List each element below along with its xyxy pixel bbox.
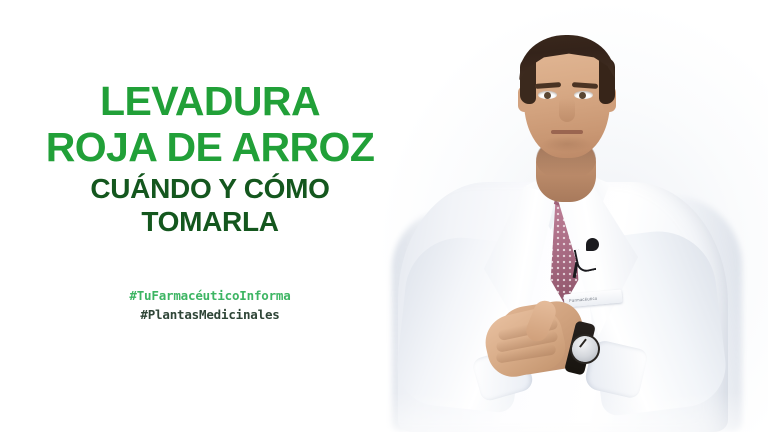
presenter-figure: Farmacéutico xyxy=(380,0,768,432)
hashtag-secondary: #PlantasMedicinales xyxy=(0,305,420,324)
iris-right xyxy=(579,92,586,99)
title-block: LEVADURA ROJA DE ARROZ xyxy=(0,78,420,170)
video-thumbnail: Farmacéutico LEVADURA ROJA DE ARROZ CUÁN… xyxy=(0,0,768,432)
iris-left xyxy=(544,92,551,99)
chest-badge-text: Farmacéutico xyxy=(569,295,598,302)
chin-shadow xyxy=(542,136,592,152)
title-line-2: ROJA DE ARROZ xyxy=(0,124,420,170)
mouth xyxy=(551,130,583,134)
subtitle-block: CUÁNDO Y CÓMO TOMARLA xyxy=(0,172,420,238)
subtitle-line-2: TOMARLA xyxy=(0,205,420,238)
hashtag-primary: #TuFarmacéuticoInforma xyxy=(0,286,420,305)
lavalier-microphone-icon xyxy=(586,238,599,251)
title-line-1: LEVADURA xyxy=(0,78,420,124)
nose xyxy=(559,98,575,122)
subtitle-line-1: CUÁNDO Y CÓMO xyxy=(0,172,420,205)
hashtag-block: #TuFarmacéuticoInforma #PlantasMedicinal… xyxy=(0,286,420,324)
